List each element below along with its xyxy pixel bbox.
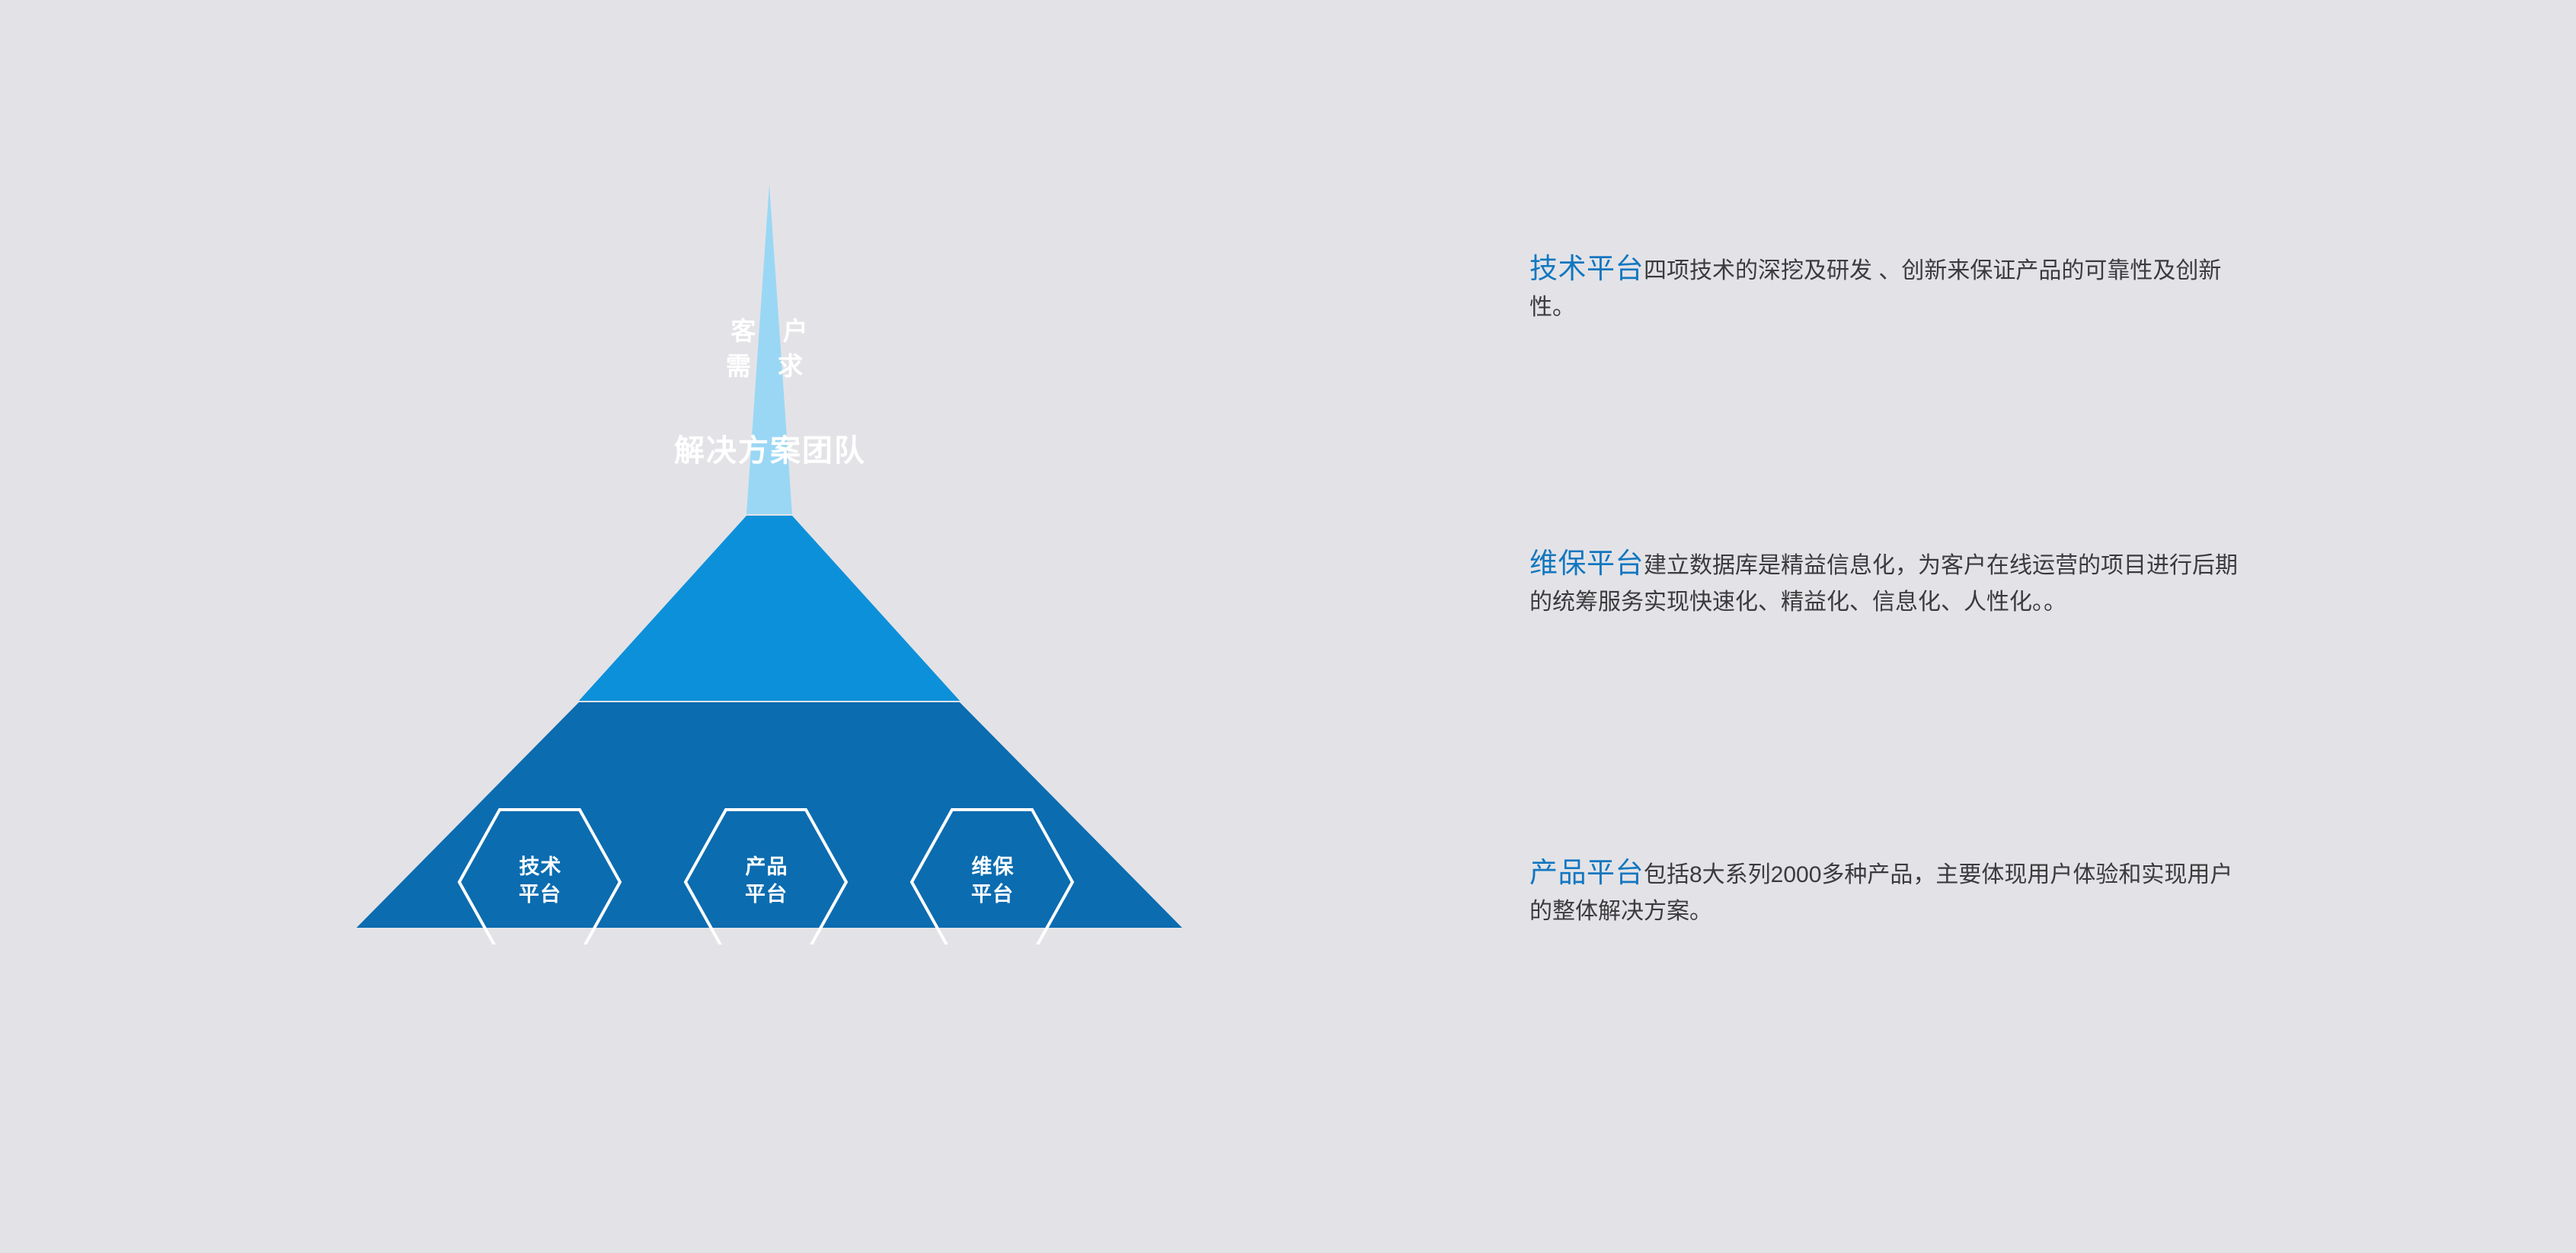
note-tech-platform: 技术平台四项技术的深挖及研发 、创新来保证产品的可靠性及创新性。 [1529,248,2253,325]
note-maintenance-platform: 维保平台建立数据库是精益信息化，为客户在线运营的项目进行后期的统筹服务实现快速化… [1529,542,2253,620]
pyramid-tier-top[interactable] [746,184,792,514]
pyramid-diagram: 客 户 需 求 解决方案团队 技术 平台 产品 平台 维保 平台 [320,168,1219,945]
pyramid-shape-group [320,168,1219,945]
note-product-platform: 产品平台包括8大系列2000多种产品，主要体现用户体验和实现用户的整体解决方案。 [1529,852,2253,929]
note-tech-platform-text: 技术平台四项技术的深挖及研发 、创新来保证产品的可靠性及创新性。 [1529,248,2253,325]
diagram-canvas: 客 户 需 求 解决方案团队 技术 平台 产品 平台 维保 平台 技术平台四项技… [0,0,2576,1253]
note-maintenance-platform-text: 维保平台建立数据库是精益信息化，为客户在线运营的项目进行后期的统筹服务实现快速化… [1529,542,2253,620]
pyramid-tier-base[interactable] [356,702,1182,928]
pyramid-tier-middle[interactable] [579,516,960,701]
note-tech-platform-lead: 技术平台 [1529,253,1644,284]
note-product-platform-lead: 产品平台 [1529,857,1644,888]
note-maintenance-platform-lead: 维保平台 [1529,548,1644,579]
notes-column: 技术平台四项技术的深挖及研发 、创新来保证产品的可靠性及创新性。 维保平台建立数… [1529,0,2291,1253]
note-product-platform-text: 产品平台包括8大系列2000多种产品，主要体现用户体验和实现用户的整体解决方案。 [1529,852,2253,929]
